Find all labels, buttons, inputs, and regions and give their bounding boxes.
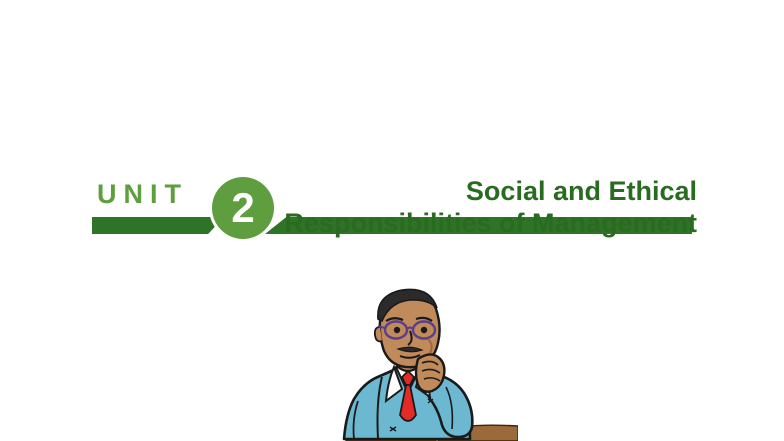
title-line-1: Social and Ethical: [0, 175, 697, 207]
unit-banner: UNIT 2: [0, 85, 784, 165]
title-line-2: Responsibilities of Management: [0, 207, 697, 239]
page-title: Social and Ethical Responsibilities of M…: [0, 175, 697, 239]
hand-shape: [416, 354, 444, 391]
thinking-businessman-illustration: [318, 281, 518, 441]
slide-canvas: UNIT 2 Social and Ethical Responsibiliti…: [0, 0, 784, 441]
